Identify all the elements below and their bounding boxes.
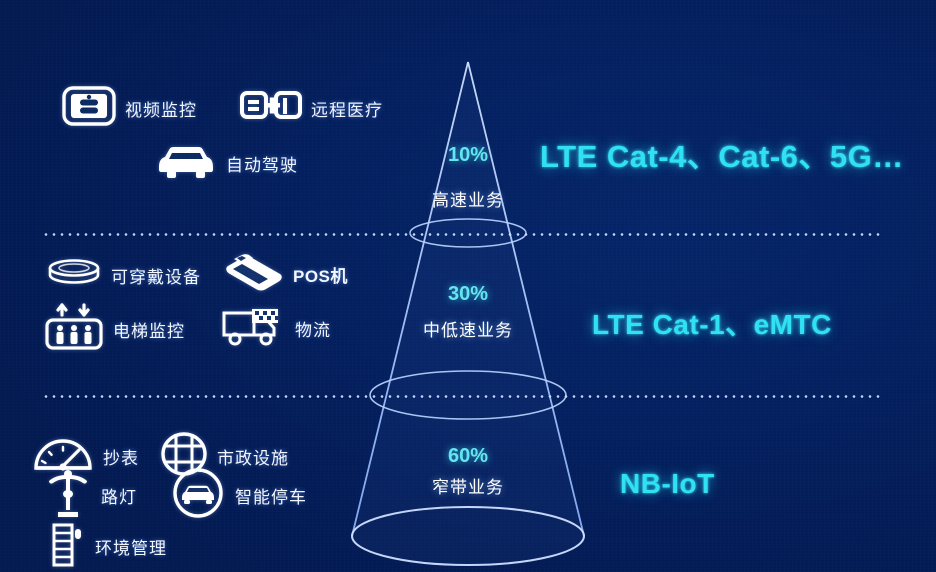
- list-item-label: 路灯: [101, 483, 137, 508]
- list-item-telemedicine[interactable]: 远程医疗: [240, 86, 383, 131]
- list-item-label: 智能停车: [235, 483, 307, 508]
- traffic-light-icon: [62, 86, 116, 131]
- list-item-pos-terminal[interactable]: POS机: [222, 252, 348, 297]
- tech-label-high-speed: LTE Cat-4、Cat-6、5G…: [540, 131, 904, 176]
- tier-service-high: 高速业务: [398, 186, 538, 211]
- diagram-canvas: 视频监控 远程医疗 自动驾驶: [0, 0, 936, 572]
- tier-percent-mid: 30%: [398, 283, 538, 306]
- smart-parking-icon: [170, 468, 226, 523]
- list-item-elevator-monitoring[interactable]: 电梯监控: [44, 303, 185, 356]
- tech-label-mid-speed: LTE Cat-1、eMTC: [592, 303, 832, 343]
- list-item-autonomous-driving[interactable]: 自动驾驶: [155, 143, 298, 184]
- list-item-label: 可穿戴设备: [111, 263, 201, 288]
- list-item-smart-parking[interactable]: 智能停车: [170, 468, 307, 523]
- tier-percent-low: 60%: [398, 445, 538, 468]
- tier-service-mid: 中低速业务: [393, 316, 543, 341]
- pos-terminal-icon: [222, 252, 284, 297]
- delivery-truck-icon: [222, 305, 286, 352]
- building-icon: [50, 521, 86, 572]
- list-item-street-lamp[interactable]: 路灯: [44, 468, 137, 523]
- list-item-video-surveillance[interactable]: 视频监控: [62, 86, 197, 131]
- tech-label-narrowband: NB-IoT: [620, 468, 715, 500]
- car-icon: [155, 143, 217, 184]
- list-item-label: 抄表: [103, 444, 139, 469]
- list-item-label: 物流: [295, 316, 331, 341]
- list-item-label: 视频监控: [125, 96, 197, 121]
- street-lamp-icon: [44, 468, 92, 523]
- tier-divider-line-1: [42, 233, 880, 236]
- list-item-label: 远程医疗: [311, 96, 383, 121]
- list-item-label: 市政设施: [217, 444, 289, 469]
- list-item-logistics[interactable]: 物流: [222, 305, 331, 352]
- tier-service-low: 窄带业务: [398, 473, 538, 498]
- list-item-label: 环境管理: [95, 534, 167, 559]
- wearable-band-icon: [46, 258, 102, 293]
- list-item-wearable-device[interactable]: 可穿戴设备: [46, 258, 201, 293]
- tier-divider-line-2: [42, 395, 880, 398]
- telemedicine-icon: [240, 86, 302, 131]
- list-item-label: 自动驾驶: [226, 151, 298, 176]
- list-item-label: 电梯监控: [113, 317, 185, 342]
- list-item-label: POS机: [293, 262, 348, 287]
- tier-percent-high: 10%: [398, 144, 538, 167]
- list-item-environment-management[interactable]: 环境管理: [50, 521, 167, 572]
- elevator-icon: [44, 303, 104, 356]
